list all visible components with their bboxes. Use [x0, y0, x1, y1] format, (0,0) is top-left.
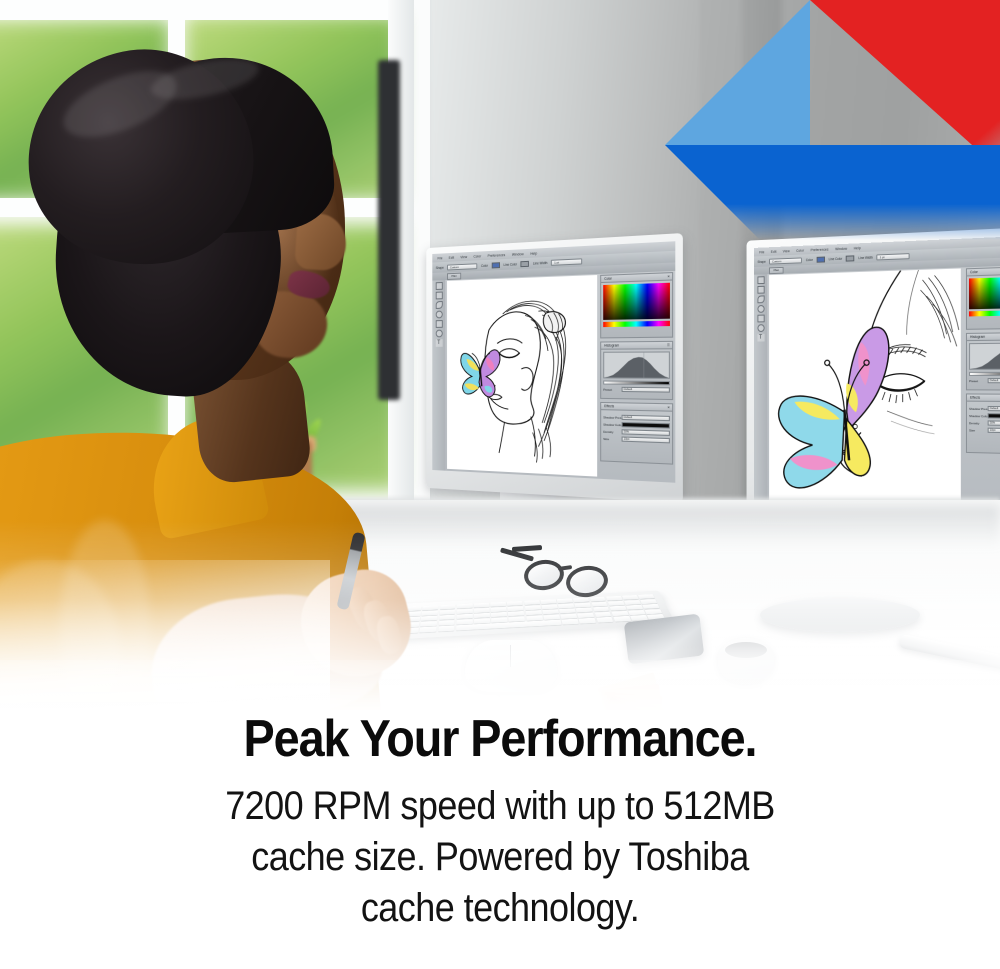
panel-close-icon[interactable]: ✕ [667, 274, 670, 278]
menu-item-edit[interactable]: Edit [449, 255, 454, 259]
mouse[interactable] [465, 640, 557, 692]
fill-color-swatch[interactable] [816, 256, 824, 262]
menu-item-file[interactable]: File [437, 256, 442, 260]
menu-item-view[interactable]: View [460, 255, 467, 259]
mouse-button-split [510, 645, 511, 667]
rect-tool[interactable] [435, 320, 442, 328]
shape-select[interactable]: Custom [447, 263, 477, 270]
polygon-tool[interactable] [435, 301, 442, 309]
density-input[interactable]: 50% [622, 429, 670, 436]
effects-panel[interactable]: Effects ✕ Shadow Preset Default Shadow C… [966, 393, 1000, 454]
levels-gradient[interactable] [603, 380, 670, 385]
menu-item-edit[interactable]: Edit [771, 249, 777, 253]
subcopy-line-2: cache size. Powered by Toshiba [50, 832, 950, 883]
ellipse-tool[interactable] [757, 324, 764, 332]
panel-menu-icon[interactable]: ☰ [667, 343, 670, 347]
line-width-select[interactable]: 1 pt [877, 253, 910, 260]
menu-item-preferences[interactable]: Preferences [811, 247, 829, 252]
rect-tool[interactable] [757, 315, 764, 323]
background-monitor-edge [378, 60, 400, 400]
menu-item-help[interactable]: Help [530, 251, 537, 255]
left-monitor-screen[interactable]: File Edit View Color Preferences Window … [432, 241, 675, 483]
menu-item-file[interactable]: File [759, 250, 764, 254]
shape-label: Shape [757, 259, 765, 263]
shape-label: Shape [436, 265, 444, 269]
shape-tool[interactable] [435, 292, 442, 300]
marketing-copy: Peak Your Performance. 7200 RPM speed wi… [0, 712, 1000, 935]
shadow-preset-label: Shadow Preset [969, 406, 986, 410]
histogram-panel-label: Histogram [604, 343, 619, 347]
subcopy-line-3: cache technology. [50, 883, 950, 934]
puck-top-ring [725, 642, 767, 658]
histogram-graph [969, 342, 1000, 369]
levels-gradient[interactable] [969, 372, 1000, 376]
left-canvas[interactable] [447, 275, 597, 477]
density-label: Density [603, 429, 619, 434]
color-panel[interactable]: Color ✕ [600, 272, 673, 338]
fill-color-swatch[interactable] [492, 262, 500, 268]
histogram-preset-label: Preset [603, 387, 619, 391]
shadow-preset-label: Shadow Preset [603, 415, 619, 420]
document-tab[interactable]: Plan [769, 266, 783, 273]
color-panel[interactable]: Color ✕ [966, 266, 1000, 330]
zoom-tool[interactable] [435, 311, 442, 319]
size-label: Size [969, 428, 986, 432]
product-banner: File Edit View Color Preferences Window … [0, 0, 1000, 969]
shadow-preset-select[interactable]: Default [988, 406, 1000, 412]
headline: Peak Your Performance. [50, 712, 950, 767]
menu-item-help[interactable]: Help [854, 246, 861, 250]
image-editor-app[interactable]: File Edit View Color Preferences Window … [754, 235, 1000, 516]
shadow-color-label: Shadow Color [969, 413, 986, 417]
right-canvas[interactable] [769, 268, 961, 510]
pointer-tool[interactable] [757, 276, 764, 284]
subcopy-line-1: 7200 RPM speed with up to 512MB [50, 781, 950, 832]
color-field[interactable] [969, 276, 1000, 309]
shape-select[interactable]: Custom [769, 257, 802, 264]
histogram-panel[interactable]: Histogram ☰ Preset [966, 332, 1000, 391]
line-width-label: Line Width [533, 260, 547, 265]
color-panel-label: Color [970, 270, 978, 274]
monitor-base-plate [760, 598, 920, 632]
shadow-color-label: Shadow Color [603, 422, 619, 427]
artwork-sketch-woman-butterfly [447, 275, 597, 477]
effects-panel-label: Effects [604, 404, 614, 408]
polygon-tool[interactable] [757, 295, 764, 303]
color-label: Color [481, 263, 488, 267]
speaker-puck[interactable] [718, 638, 774, 684]
histogram-preset-select[interactable]: Default [988, 378, 1000, 383]
effects-panel[interactable]: Effects ✕ Shadow Preset Default Shadow C… [600, 402, 673, 465]
shadow-preset-select[interactable]: Default [622, 415, 670, 421]
window-header [0, 0, 410, 20]
density-label: Density [969, 421, 986, 425]
tool-palette[interactable]: T [754, 274, 767, 504]
menu-item-preferences[interactable]: Preferences [488, 253, 506, 258]
density-input[interactable]: 50% [988, 420, 1000, 426]
line-width-select[interactable]: 1 pt [551, 258, 582, 265]
menu-item-color[interactable]: Color [473, 254, 481, 258]
effects-panel-label: Effects [970, 396, 980, 400]
size-input[interactable]: 10px [622, 436, 670, 443]
tool-palette[interactable]: T [432, 280, 445, 471]
color-panel-label: Color [604, 277, 612, 281]
histogram-preset-select[interactable]: Default [622, 387, 670, 393]
pointer-tool[interactable] [435, 282, 442, 290]
size-label: Size [603, 436, 619, 441]
line-width-label: Line Width [858, 255, 872, 260]
line-color-swatch[interactable] [846, 255, 855, 261]
size-input[interactable]: 10px [988, 428, 1000, 434]
line-color-swatch[interactable] [521, 260, 529, 266]
line-color-label: Line Color [829, 256, 843, 260]
shape-tool[interactable] [757, 286, 764, 294]
text-tool[interactable]: T [757, 334, 764, 342]
histogram-panel-label: Histogram [970, 335, 985, 339]
color-field[interactable] [603, 283, 670, 320]
menu-item-view[interactable]: View [783, 249, 790, 253]
line-color-label: Line Color [504, 262, 517, 267]
zoom-tool[interactable] [757, 305, 764, 313]
shadow-color-swatch[interactable] [988, 413, 1000, 419]
histogram-preset-label: Preset [969, 379, 986, 383]
histogram-panel[interactable]: Histogram ☰ [600, 341, 673, 400]
ellipse-tool[interactable] [435, 330, 442, 338]
subcopy: 7200 RPM speed with up to 512MB cache si… [50, 781, 950, 935]
histogram-graph [603, 351, 670, 378]
menu-item-window[interactable]: Window [835, 246, 847, 250]
right-monitor-screen[interactable]: File Edit View Color Preferences Window … [754, 235, 1000, 516]
shadow-color-swatch[interactable] [622, 422, 670, 429]
menu-item-color[interactable]: Color [796, 248, 804, 252]
hue-slider[interactable] [969, 310, 1000, 316]
color-label: Color [806, 258, 813, 262]
hue-slider[interactable] [603, 321, 670, 327]
document-tab[interactable]: Plan [447, 272, 461, 279]
artwork-closeup-butterfly-face [769, 268, 961, 510]
text-tool[interactable]: T [435, 339, 442, 347]
panel-close-icon[interactable]: ✕ [667, 405, 670, 409]
menu-item-window[interactable]: Window [512, 252, 524, 257]
image-editor-app[interactable]: File Edit View Color Preferences Window … [432, 241, 675, 483]
hero-photo: File Edit View Color Preferences Window … [0, 0, 1000, 710]
